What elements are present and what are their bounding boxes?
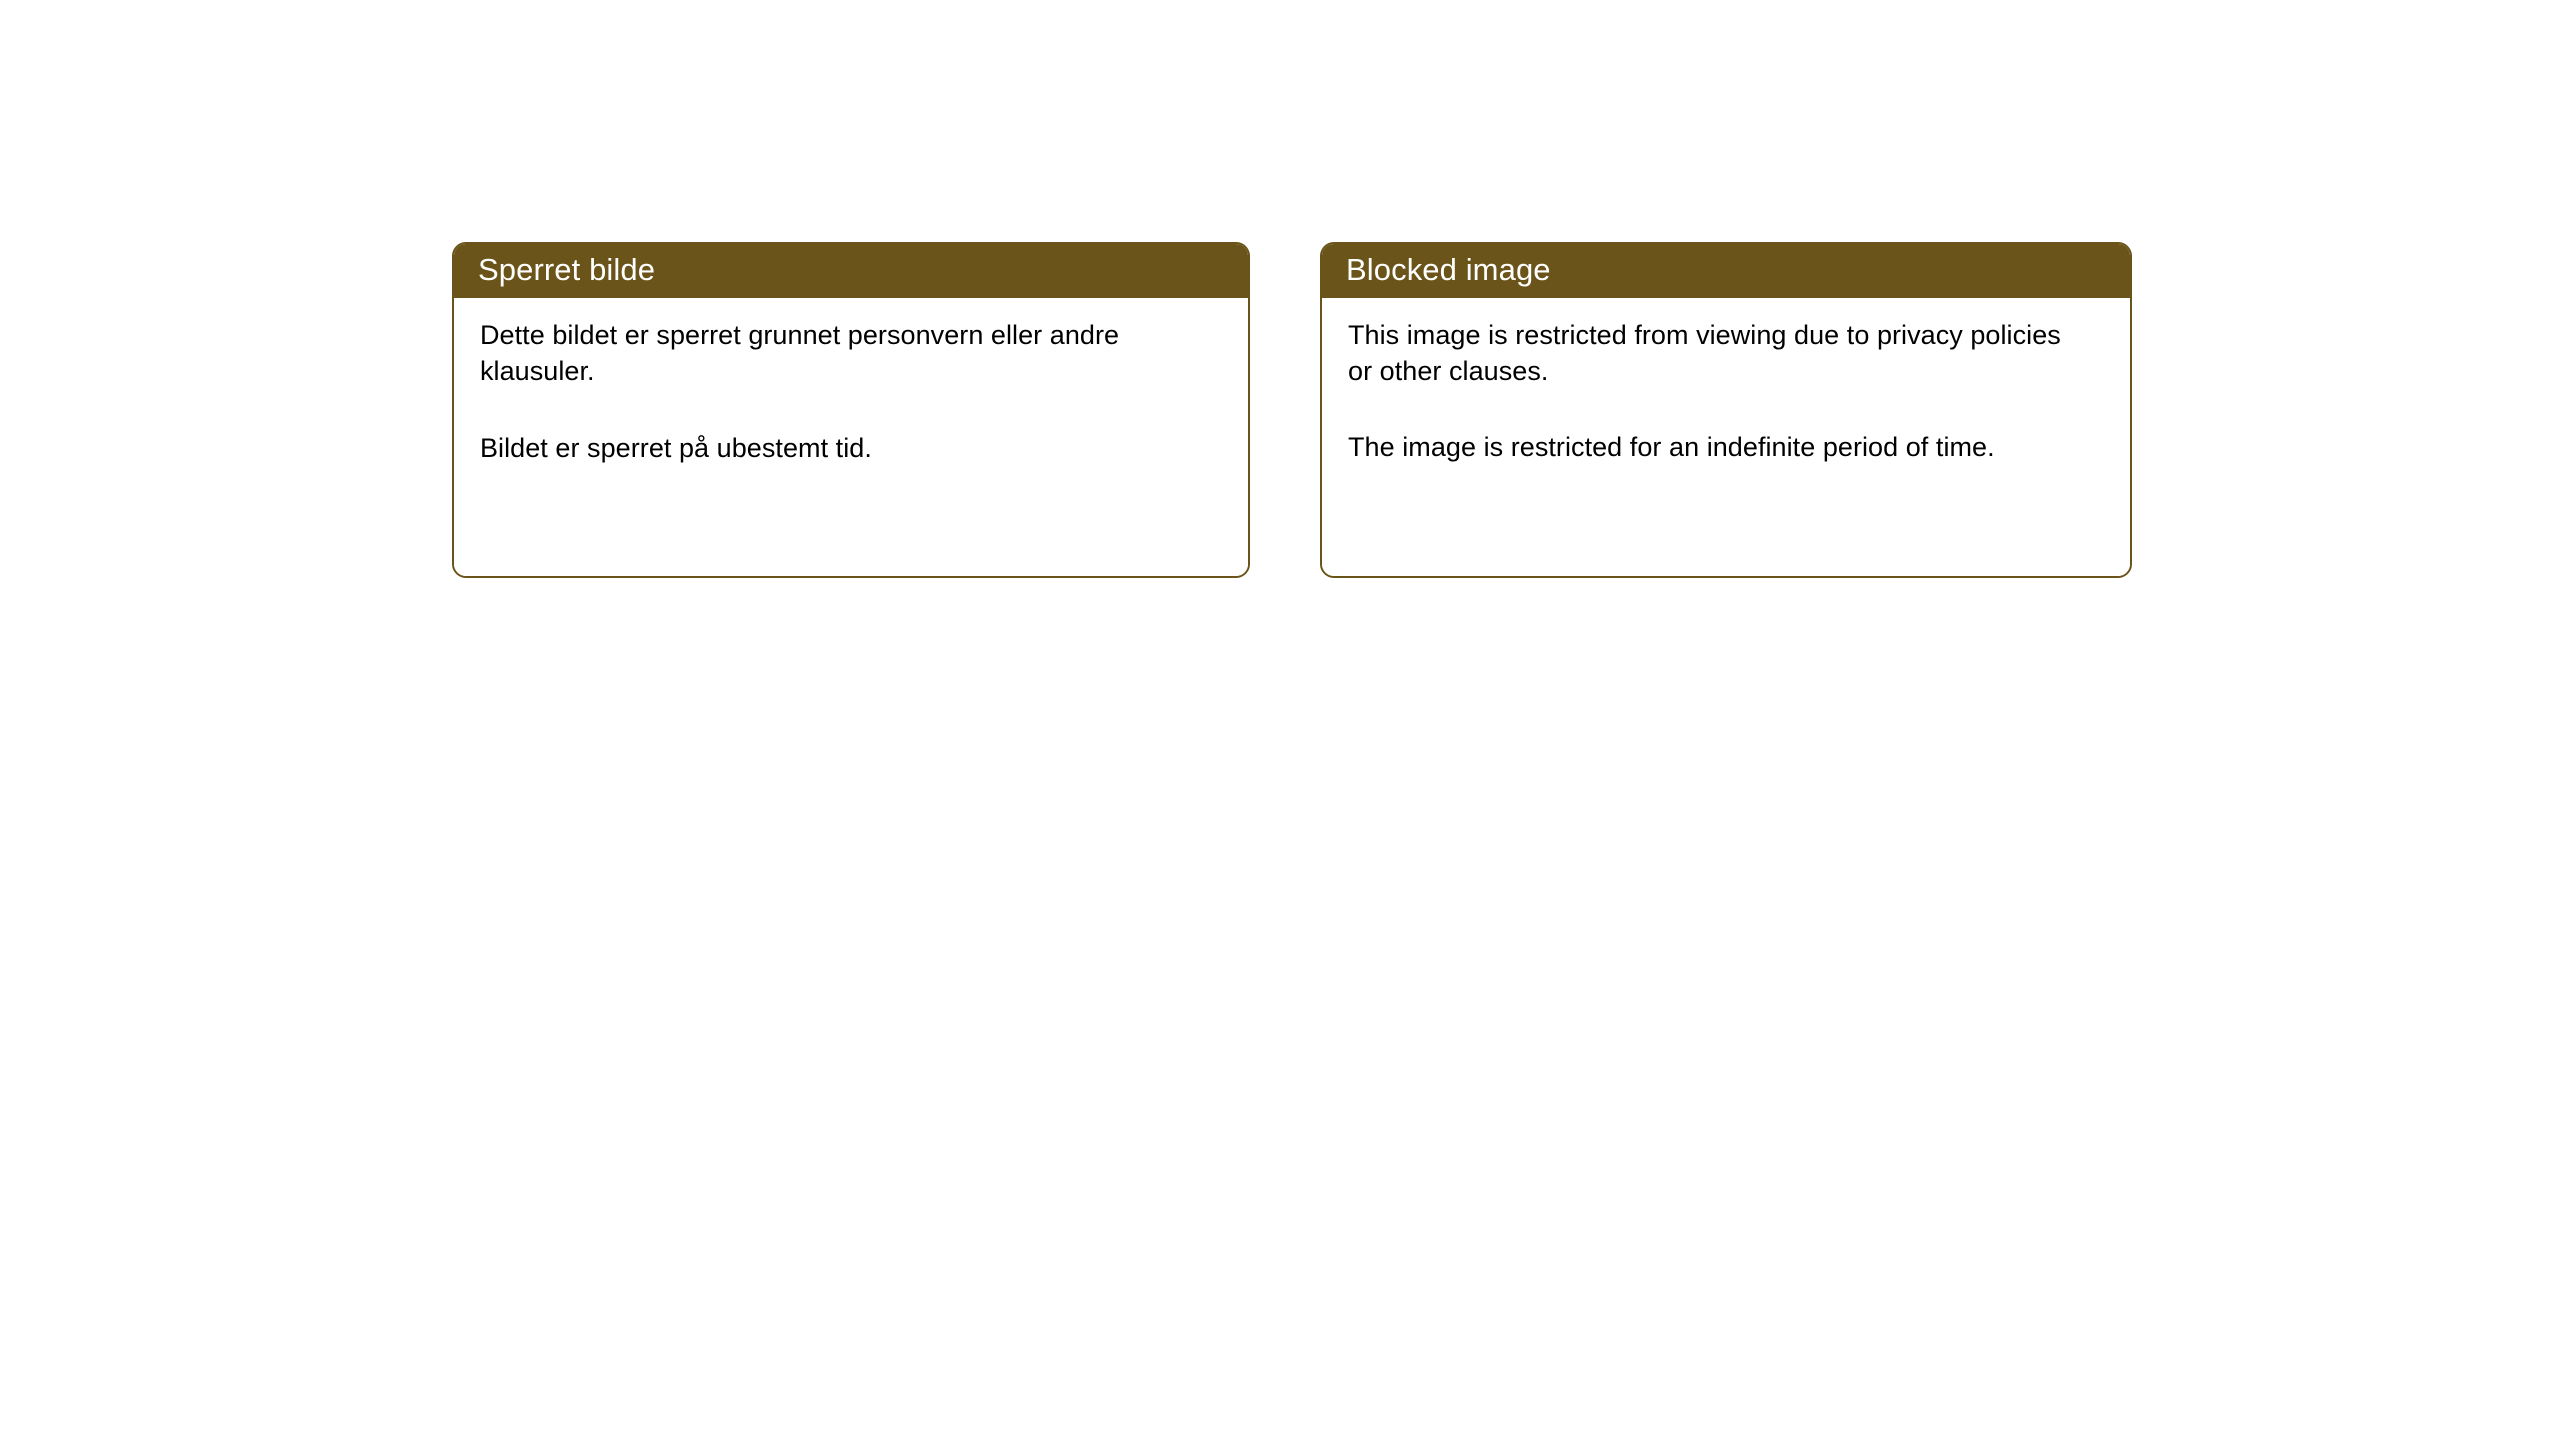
card-paragraph-primary-english: This image is restricted from viewing du… [1348,318,2068,389]
card-header-english: Blocked image [1322,244,2130,298]
card-body-norwegian: Dette bildet er sperret grunnet personve… [454,298,1248,576]
blocked-image-card-english: Blocked image This image is restricted f… [1320,242,2132,578]
blocked-image-notice-group: Sperret bilde Dette bildet er sperret gr… [452,242,2132,578]
card-paragraph-secondary-norwegian: Bildet er sperret på ubestemt tid. [480,431,1200,467]
card-header-norwegian: Sperret bilde [454,244,1248,298]
card-body-english: This image is restricted from viewing du… [1322,298,2130,576]
card-title-norwegian: Sperret bilde [478,251,1248,289]
card-title-english: Blocked image [1346,251,2130,289]
blocked-image-card-norwegian: Sperret bilde Dette bildet er sperret gr… [452,242,1250,578]
card-paragraph-primary-norwegian: Dette bildet er sperret grunnet personve… [480,318,1200,389]
card-paragraph-secondary-english: The image is restricted for an indefinit… [1348,430,2068,466]
